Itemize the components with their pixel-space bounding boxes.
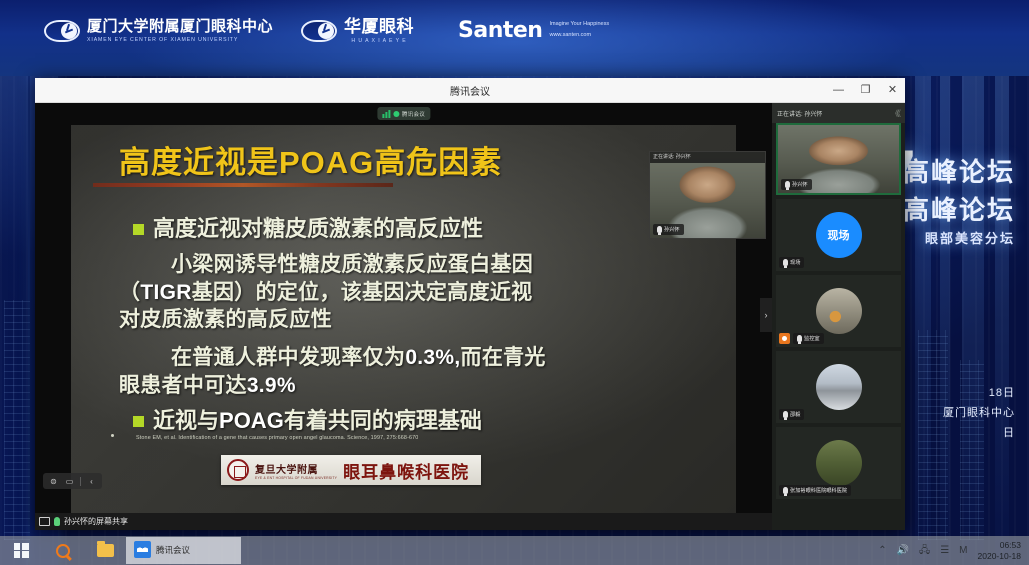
participant-tile-4[interactable]: 张加裕眼科医院眼科医院 <box>776 427 901 499</box>
volume-icon[interactable]: 🔊 <box>897 546 909 556</box>
window-controls: — ❐ ✕ <box>832 84 899 97</box>
window-title: 腾讯会议 <box>35 83 905 98</box>
slide-bullet-1-text: 高度近视对糖皮质激素的高反应性 <box>153 216 483 241</box>
show-hidden-icons-button[interactable]: ⌃ <box>878 546 886 556</box>
slide-paragraph-1: 小梁网诱导性糖皮质激素反应蛋白基因 （TIGR基因）的定位，该基因决定高度近视 … <box>119 251 699 334</box>
floating-speaker-view[interactable]: 正在讲话: 孙兴怀 孙兴怀 <box>649 151 766 239</box>
fudan-seal-icon <box>227 459 249 481</box>
bullet-square-icon <box>133 224 144 235</box>
slide-p1-line2-a: （ <box>119 281 140 304</box>
stage-venue: 厦门眼科中心 <box>943 404 1015 420</box>
maximize-button[interactable]: ❐ <box>859 84 872 97</box>
clock-date: 2020-10-18 <box>978 551 1021 562</box>
tencent-meeting-window: 腾讯会议 — ❐ ✕ 腾讯会议 高度近视是POAG高危因素 高度近视对糖皮质激素… <box>35 78 905 530</box>
footer-logo-cn-small: 复旦大学附属 <box>255 461 337 476</box>
microphone-icon <box>797 335 802 342</box>
backdrop-grid <box>960 360 984 540</box>
file-explorer-button[interactable] <box>84 536 126 565</box>
participant-name: 张加裕眼科医院眼科医院 <box>790 487 847 494</box>
logo-en-text: XIAMEN EYE CENTER OF XIAMEN UNIVERSITY <box>87 37 273 43</box>
share-status-text: 孙兴怀的屏幕共享 <box>64 516 128 527</box>
eye-logo-icon <box>44 20 80 42</box>
file-explorer-icon <box>97 544 114 557</box>
share-status-bar: 孙兴怀的屏幕共享 <box>35 513 772 530</box>
slide-p2-line2: 眼患者中可达3.9% <box>119 372 699 400</box>
tencent-meeting-icon <box>134 541 151 558</box>
logo-cn-text: 厦门大学附属厦门眼科中心 <box>87 19 273 35</box>
slide-p1-line2: （TIGR基因）的定位，该基因决定高度近视 <box>119 279 699 307</box>
slide-p2-line2-a: 眼患者中可达 <box>119 374 247 397</box>
participant-name-chip: 现场 <box>779 257 804 268</box>
participant-avatar <box>816 288 862 334</box>
microphone-icon <box>657 226 662 233</box>
presentation-slide: 高度近视是POAG高危因素 高度近视对糖皮质激素的高反应性 小梁网诱导性糖皮质激… <box>71 125 736 513</box>
share-mini-toolbar[interactable]: ⊜ ▭ ‹ <box>43 473 102 489</box>
audio-level-icon <box>382 110 390 118</box>
toolbar-divider <box>80 477 81 486</box>
participant-tile-3[interactable]: 邵毅 <box>776 351 901 423</box>
microphone-icon <box>54 517 60 526</box>
logo-huaxia-eye: 华厦眼科 H U A X I A E Y E <box>301 18 414 44</box>
logo-santen: Santen Imagine Your Happiness www.santen… <box>458 20 609 43</box>
slide-citation: Stone EM, et al. Identification of a gen… <box>111 434 718 441</box>
speaker-view-header: 正在讲话: 孙兴怀 <box>650 152 765 163</box>
slide-p2-line1: 在普通人群中发现率仅为0.3%,而在青光 <box>119 344 699 372</box>
collapse-chevron-icon[interactable]: 《《 <box>891 108 899 119</box>
slide-p2-line1-c: 而在青光 <box>461 346 546 369</box>
collapse-panel-button[interactable]: › <box>760 298 772 332</box>
slide-p2-line1-a: 在普通人群中发现率仅为 <box>171 346 405 369</box>
slide-p2-line1-b: 0.3%, <box>405 346 460 369</box>
participant-name: 监控室 <box>804 335 820 342</box>
sharing-indicator-label: 腾讯会议 <box>402 110 425 118</box>
slide-bullet-2-a: 近视与 <box>153 408 219 433</box>
slide-bullet-1: 高度近视对糖皮质激素的高反应性 <box>133 211 483 243</box>
slide-p2-line2-b: 3.9% <box>247 374 296 397</box>
participant-name: 邵毅 <box>790 411 800 418</box>
minimize-button[interactable]: — <box>832 84 845 97</box>
microphone-icon <box>785 181 790 188</box>
search-icon <box>56 544 70 558</box>
search-button[interactable] <box>42 536 84 565</box>
more-icon[interactable]: ‹ <box>86 476 97 487</box>
taskbar-left: 腾讯会议 <box>0 536 241 565</box>
stage-date: 18日 <box>989 384 1015 400</box>
footer-logo-en-small: EYE & ENT HOSPITAL OF FUDAN UNIVERSITY <box>255 476 337 480</box>
footer-logo-cn-big: 眼耳鼻喉科医院 <box>343 458 469 483</box>
network-icon[interactable]: 🖧 <box>919 546 930 556</box>
window-body: 腾讯会议 高度近视是POAG高危因素 高度近视对糖皮质激素的高反应性 小梁网诱导… <box>35 103 905 530</box>
microphone-icon <box>783 259 788 266</box>
slide-footer-logo: 复旦大学附属 EYE & ENT HOSPITAL OF FUDAN UNIVE… <box>221 455 481 485</box>
screen-share-icon <box>39 517 50 526</box>
mic-icon[interactable]: ⊜ <box>48 476 59 487</box>
participant-tile-1[interactable]: 现场 现场 <box>776 199 901 271</box>
close-button[interactable]: ✕ <box>886 84 899 97</box>
logo-en-text: H U A X I A E Y E <box>344 38 414 44</box>
backdrop-stripe <box>995 0 1009 565</box>
speaking-now-bar: 正在讲话: 孙兴怀 《《 <box>772 103 905 123</box>
input-method-icon[interactable]: М <box>959 546 967 556</box>
slide-paragraph-2: 在普通人群中发现率仅为0.3%,而在青光 眼患者中可达3.9% <box>119 344 699 399</box>
speaker-name-chip: 孙兴怀 <box>653 224 684 235</box>
citation-text: Stone EM, et al. Identification of a gen… <box>136 435 418 441</box>
slide-p1-line2-b: TIGR <box>140 281 191 304</box>
windows-taskbar: 腾讯会议 ⌃ 🔊 🖧 ☰ М 06:53 2020-10-18 <box>0 536 1029 565</box>
participant-avatar <box>816 364 862 410</box>
slide-p1-line1: 小梁网诱导性糖皮质激素反应蛋白基因 <box>119 251 699 279</box>
participant-name: 孙兴怀 <box>792 181 808 188</box>
clock-time: 06:53 <box>978 540 1021 551</box>
participant-name-chip: 监控室 <box>793 333 824 344</box>
backdrop-grid <box>4 300 30 540</box>
logo-cn-text: 华厦眼科 <box>344 18 414 36</box>
logo-xiamen-eye-center: 厦门大学附属厦门眼科中心 XIAMEN EYE CENTER OF XIAMEN… <box>44 19 273 43</box>
slide-bullet-2-c: 有着共同的病理基础 <box>284 408 482 433</box>
slide-title: 高度近视是POAG高危因素 <box>119 137 502 182</box>
stage-subline: 眼部美容分坛 <box>925 228 1015 247</box>
participant-avatar <box>816 440 862 486</box>
taskbar-app-tencent-meeting[interactable]: 腾讯会议 <box>126 537 241 564</box>
slide-p1-line2-c: 基因）的定位，该基因决定高度近视 <box>192 281 533 304</box>
system-tray: ⌃ 🔊 🖧 ☰ М 06:53 2020-10-18 <box>878 536 1029 565</box>
avatar-initial: 现场 <box>828 227 850 243</box>
start-button[interactable] <box>0 536 42 565</box>
microphone-icon <box>783 487 788 494</box>
banner-logo-row: 厦门大学附属厦门眼科中心 XIAMEN EYE CENTER OF XIAMEN… <box>44 18 609 44</box>
participant-name-chip: 孙兴怀 <box>781 179 812 190</box>
slide-p1-line3: 对皮质激素的高反应性 <box>119 306 699 334</box>
stage-headline-1: 高峰论坛 <box>903 152 1015 189</box>
taskbar-clock[interactable]: 06:53 2020-10-18 <box>978 540 1021 561</box>
sharing-dot-icon <box>393 111 399 117</box>
eye-logo-icon <box>301 20 337 42</box>
slide-bullet-2: 近视与POAG有着共同的病理基础 <box>133 403 482 435</box>
host-badge-icon <box>779 333 790 344</box>
participant-tile-0[interactable]: 孙兴怀 <box>776 123 901 195</box>
santen-tagline: Imagine Your Happiness <box>549 20 609 31</box>
backdrop-grid <box>918 330 948 540</box>
event-banner: 厦门大学附属厦门眼科中心 XIAMEN EYE CENTER OF XIAMEN… <box>0 0 1029 76</box>
stage-misc: 日 <box>1003 424 1015 440</box>
taskbar-app-label: 腾讯会议 <box>156 544 190 556</box>
santen-url: www.santen.com <box>549 31 609 42</box>
participant-panel: 正在讲话: 孙兴怀 《《 孙兴怀 现场 现场 <box>772 103 905 530</box>
participant-name-chip: 张加裕眼科医院眼科医院 <box>779 485 851 496</box>
stage-headline-2: 高峰论坛 <box>903 190 1015 227</box>
participant-name-chip: 邵毅 <box>779 409 804 420</box>
citation-bullet-icon <box>111 434 114 437</box>
sharing-indicator: 腾讯会议 <box>377 107 430 120</box>
participant-name: 现场 <box>790 259 800 266</box>
slide-bullet-2-b: POAG <box>219 408 284 433</box>
participant-tile-2[interactable]: 监控室 <box>776 275 901 347</box>
slide-title-divider <box>93 183 393 187</box>
shared-screen-region: 腾讯会议 高度近视是POAG高危因素 高度近视对糖皮质激素的高反应性 小梁网诱导… <box>35 103 772 530</box>
camera-icon[interactable]: ▭ <box>64 476 75 487</box>
microphone-icon <box>783 411 788 418</box>
bullet-square-icon <box>133 416 144 427</box>
speaking-now-label: 正在讲话: 孙兴怀 <box>777 109 822 118</box>
action-center-icon[interactable]: ☰ <box>940 546 949 556</box>
windows-logo-icon <box>14 543 29 558</box>
santen-wordmark: Santen <box>458 20 542 42</box>
window-titlebar[interactable]: 腾讯会议 — ❐ ✕ <box>35 78 905 103</box>
participant-avatar: 现场 <box>816 212 862 258</box>
speaker-name: 孙兴怀 <box>664 226 680 233</box>
